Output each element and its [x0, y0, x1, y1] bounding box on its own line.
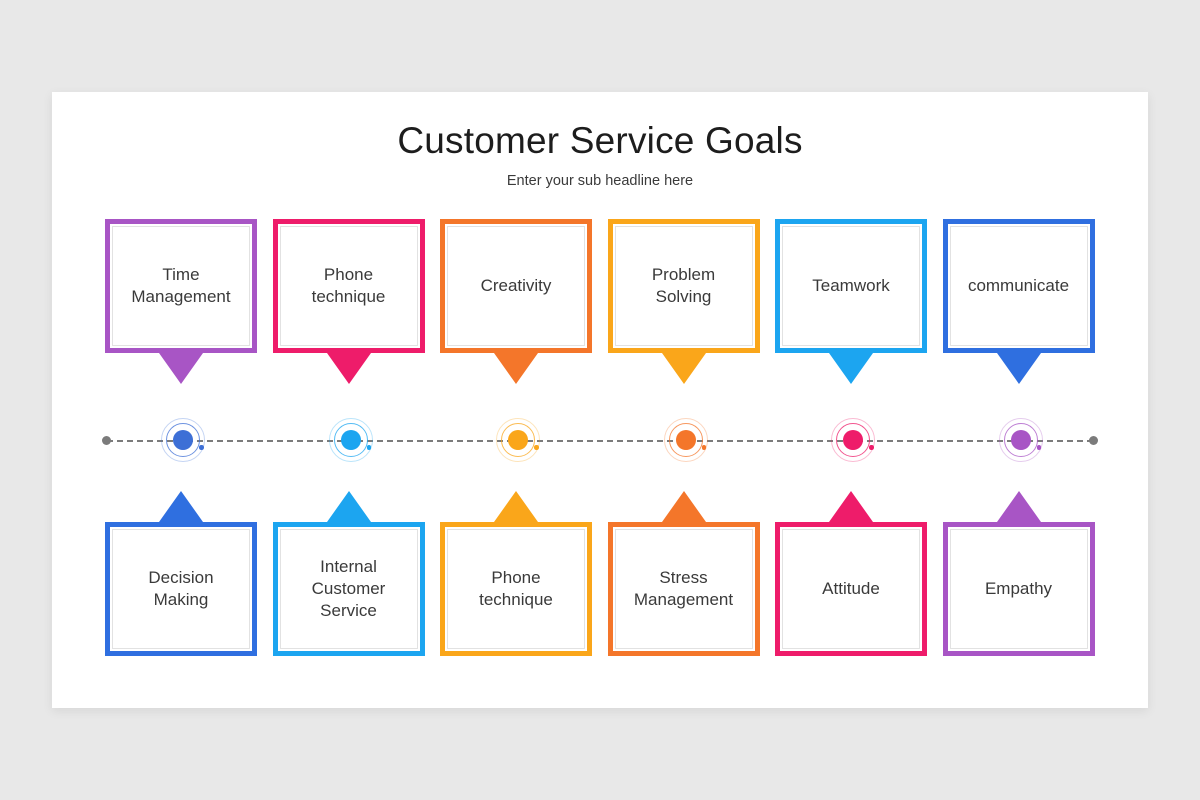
pointer-triangle-up: [159, 491, 203, 522]
goal-box-inner: Creativity: [447, 226, 585, 346]
goal-box-top[interactable]: Teamwork: [775, 219, 927, 353]
goal-box-top[interactable]: Problem Solving: [608, 219, 760, 353]
marker-satellite-icon: [367, 445, 372, 450]
pointer-triangle-up: [494, 491, 538, 522]
goal-label-top: Creativity: [475, 275, 558, 297]
timeline-marker[interactable]: [999, 418, 1045, 464]
goal-box-bottom[interactable]: Stress Management: [608, 522, 760, 656]
goal-box-inner: Time Management: [112, 226, 250, 346]
goal-label-top: Problem Solving: [646, 264, 721, 308]
goal-box-top[interactable]: communicate: [943, 219, 1095, 353]
timeline-column: CreativityPhone technique: [437, 92, 605, 708]
goal-label-top: communicate: [962, 275, 1075, 297]
timeline-column: Problem SolvingStress Management: [605, 92, 773, 708]
slide-card: Customer Service Goals Enter your sub he…: [52, 92, 1148, 708]
timeline-column: Phone techniqueInternal Customer Service: [270, 92, 438, 708]
goal-box-inner: Problem Solving: [615, 226, 753, 346]
goal-box-top[interactable]: Creativity: [440, 219, 592, 353]
goal-label-bottom: Empathy: [979, 578, 1058, 600]
pointer-triangle-down: [494, 353, 538, 384]
pointer-triangle-up: [327, 491, 371, 522]
goal-label-bottom: Decision Making: [142, 567, 219, 611]
timeline-marker[interactable]: [664, 418, 710, 464]
marker-satellite-icon: [534, 445, 539, 450]
goal-box-inner: Internal Customer Service: [280, 529, 418, 649]
marker-satellite-icon: [702, 445, 707, 450]
goal-box-bottom[interactable]: Phone technique: [440, 522, 592, 656]
goal-box-bottom[interactable]: Empathy: [943, 522, 1095, 656]
goal-label-top: Phone technique: [306, 264, 392, 308]
timeline-marker[interactable]: [831, 418, 877, 464]
goal-box-inner: Stress Management: [615, 529, 753, 649]
marker-dot-icon: [341, 430, 361, 450]
marker-dot-icon: [1011, 430, 1031, 450]
pointer-triangle-down: [829, 353, 873, 384]
goal-box-inner: Phone technique: [280, 226, 418, 346]
goal-box-top[interactable]: Phone technique: [273, 219, 425, 353]
marker-dot-icon: [843, 430, 863, 450]
marker-satellite-icon: [1037, 445, 1042, 450]
marker-satellite-icon: [199, 445, 204, 450]
goal-box-inner: communicate: [950, 226, 1088, 346]
goal-box-bottom[interactable]: Attitude: [775, 522, 927, 656]
timeline-marker[interactable]: [329, 418, 375, 464]
goal-label-bottom: Phone technique: [473, 567, 559, 611]
goal-box-inner: Phone technique: [447, 529, 585, 649]
goal-box-bottom[interactable]: Decision Making: [105, 522, 257, 656]
timeline-column: Time ManagementDecision Making: [102, 92, 270, 708]
goal-box-top[interactable]: Time Management: [105, 219, 257, 353]
goal-label-bottom: Stress Management: [628, 567, 739, 611]
pointer-triangle-down: [159, 353, 203, 384]
marker-dot-icon: [508, 430, 528, 450]
pointer-triangle-down: [997, 353, 1041, 384]
timeline-column: communicateEmpathy: [940, 92, 1108, 708]
goal-box-inner: Attitude: [782, 529, 920, 649]
timeline-column: TeamworkAttitude: [772, 92, 940, 708]
goal-box-inner: Empathy: [950, 529, 1088, 649]
pointer-triangle-down: [327, 353, 371, 384]
pointer-triangle-up: [997, 491, 1041, 522]
goal-box-bottom[interactable]: Internal Customer Service: [273, 522, 425, 656]
goal-label-bottom: Attitude: [816, 578, 886, 600]
marker-dot-icon: [173, 430, 193, 450]
goal-box-inner: Teamwork: [782, 226, 920, 346]
goal-label-bottom: Internal Customer Service: [306, 556, 392, 622]
goal-label-top: Time Management: [125, 264, 236, 308]
timeline-marker[interactable]: [496, 418, 542, 464]
pointer-triangle-up: [829, 491, 873, 522]
goal-label-top: Teamwork: [806, 275, 895, 297]
pointer-triangle-up: [662, 491, 706, 522]
marker-dot-icon: [676, 430, 696, 450]
timeline-diagram: Time ManagementDecision MakingPhone tech…: [52, 92, 1148, 708]
goal-box-inner: Decision Making: [112, 529, 250, 649]
marker-satellite-icon: [869, 445, 874, 450]
pointer-triangle-down: [662, 353, 706, 384]
timeline-marker[interactable]: [161, 418, 207, 464]
